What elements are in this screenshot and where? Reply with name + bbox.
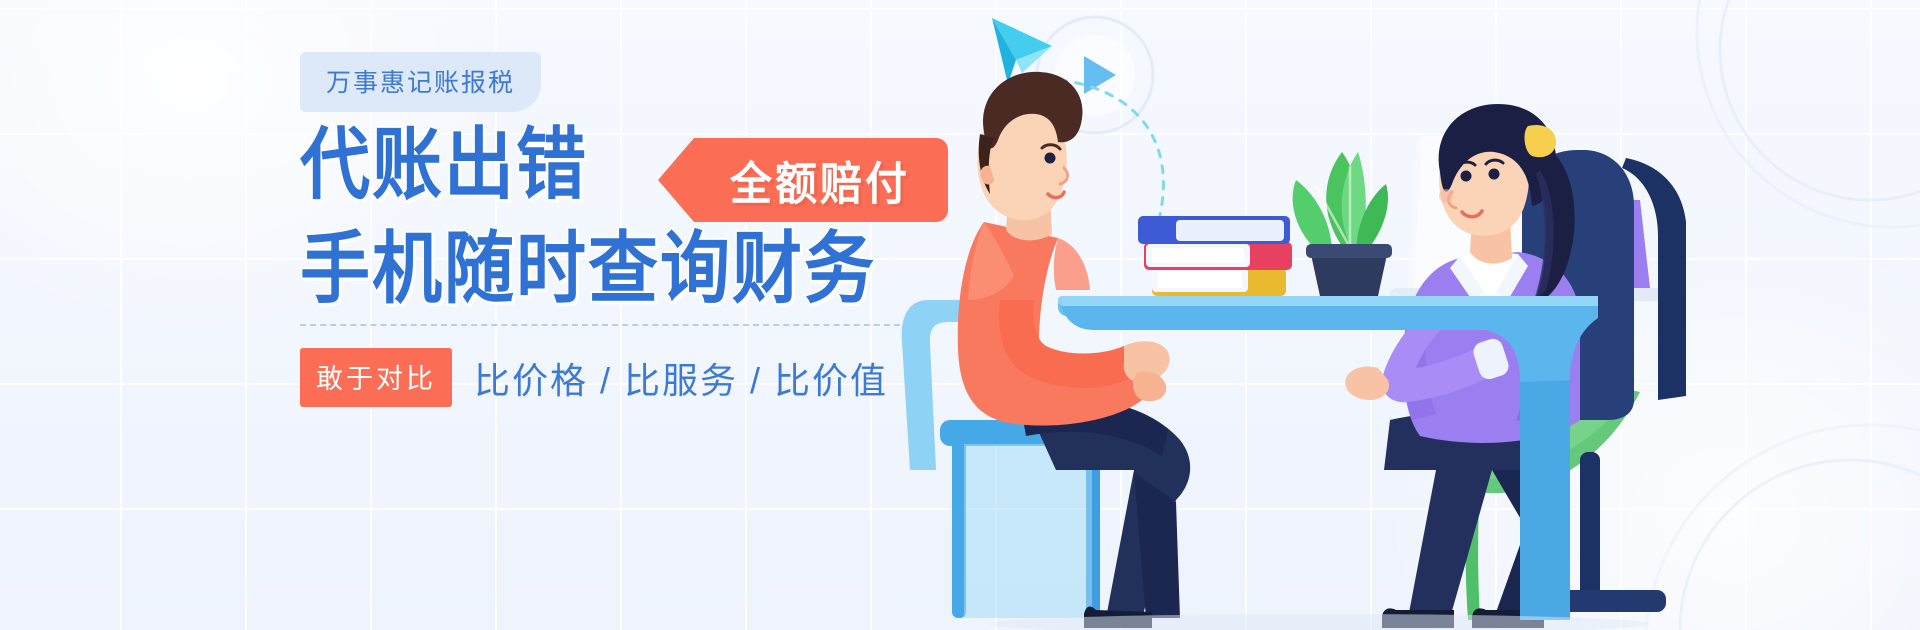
comparison-row: 敢于对比 比价格 / 比服务 / 比价值 (300, 348, 920, 407)
marketing-banner: 万事惠记账报税 代账出错 全额赔付 手机随时查询财务 敢于对比 比价格 / 比服… (0, 0, 1920, 630)
potted-plant (1293, 152, 1392, 296)
brand-tag-pill: 万事惠记账报税 (300, 52, 541, 112)
comparison-text: 比价格 / 比服务 / 比价值 (474, 352, 888, 404)
banner-text-block: 万事惠记账报税 代账出错 全额赔付 手机随时查询财务 敢于对比 比价格 / 比服… (300, 52, 920, 407)
comparison-tag: 敢于对比 (300, 348, 452, 407)
dotted-divider (300, 324, 900, 326)
hero-illustration (880, 0, 1920, 630)
book-stack (1138, 216, 1292, 296)
headline-row-1: 代账出错 全额赔付 (300, 134, 920, 220)
headline-line-1: 代账出错 (300, 126, 588, 204)
male-client (958, 72, 1170, 426)
headline-line-2: 手机随时查询财务 (300, 230, 876, 308)
headline-row-2: 手机随时查询财务 (300, 238, 920, 308)
